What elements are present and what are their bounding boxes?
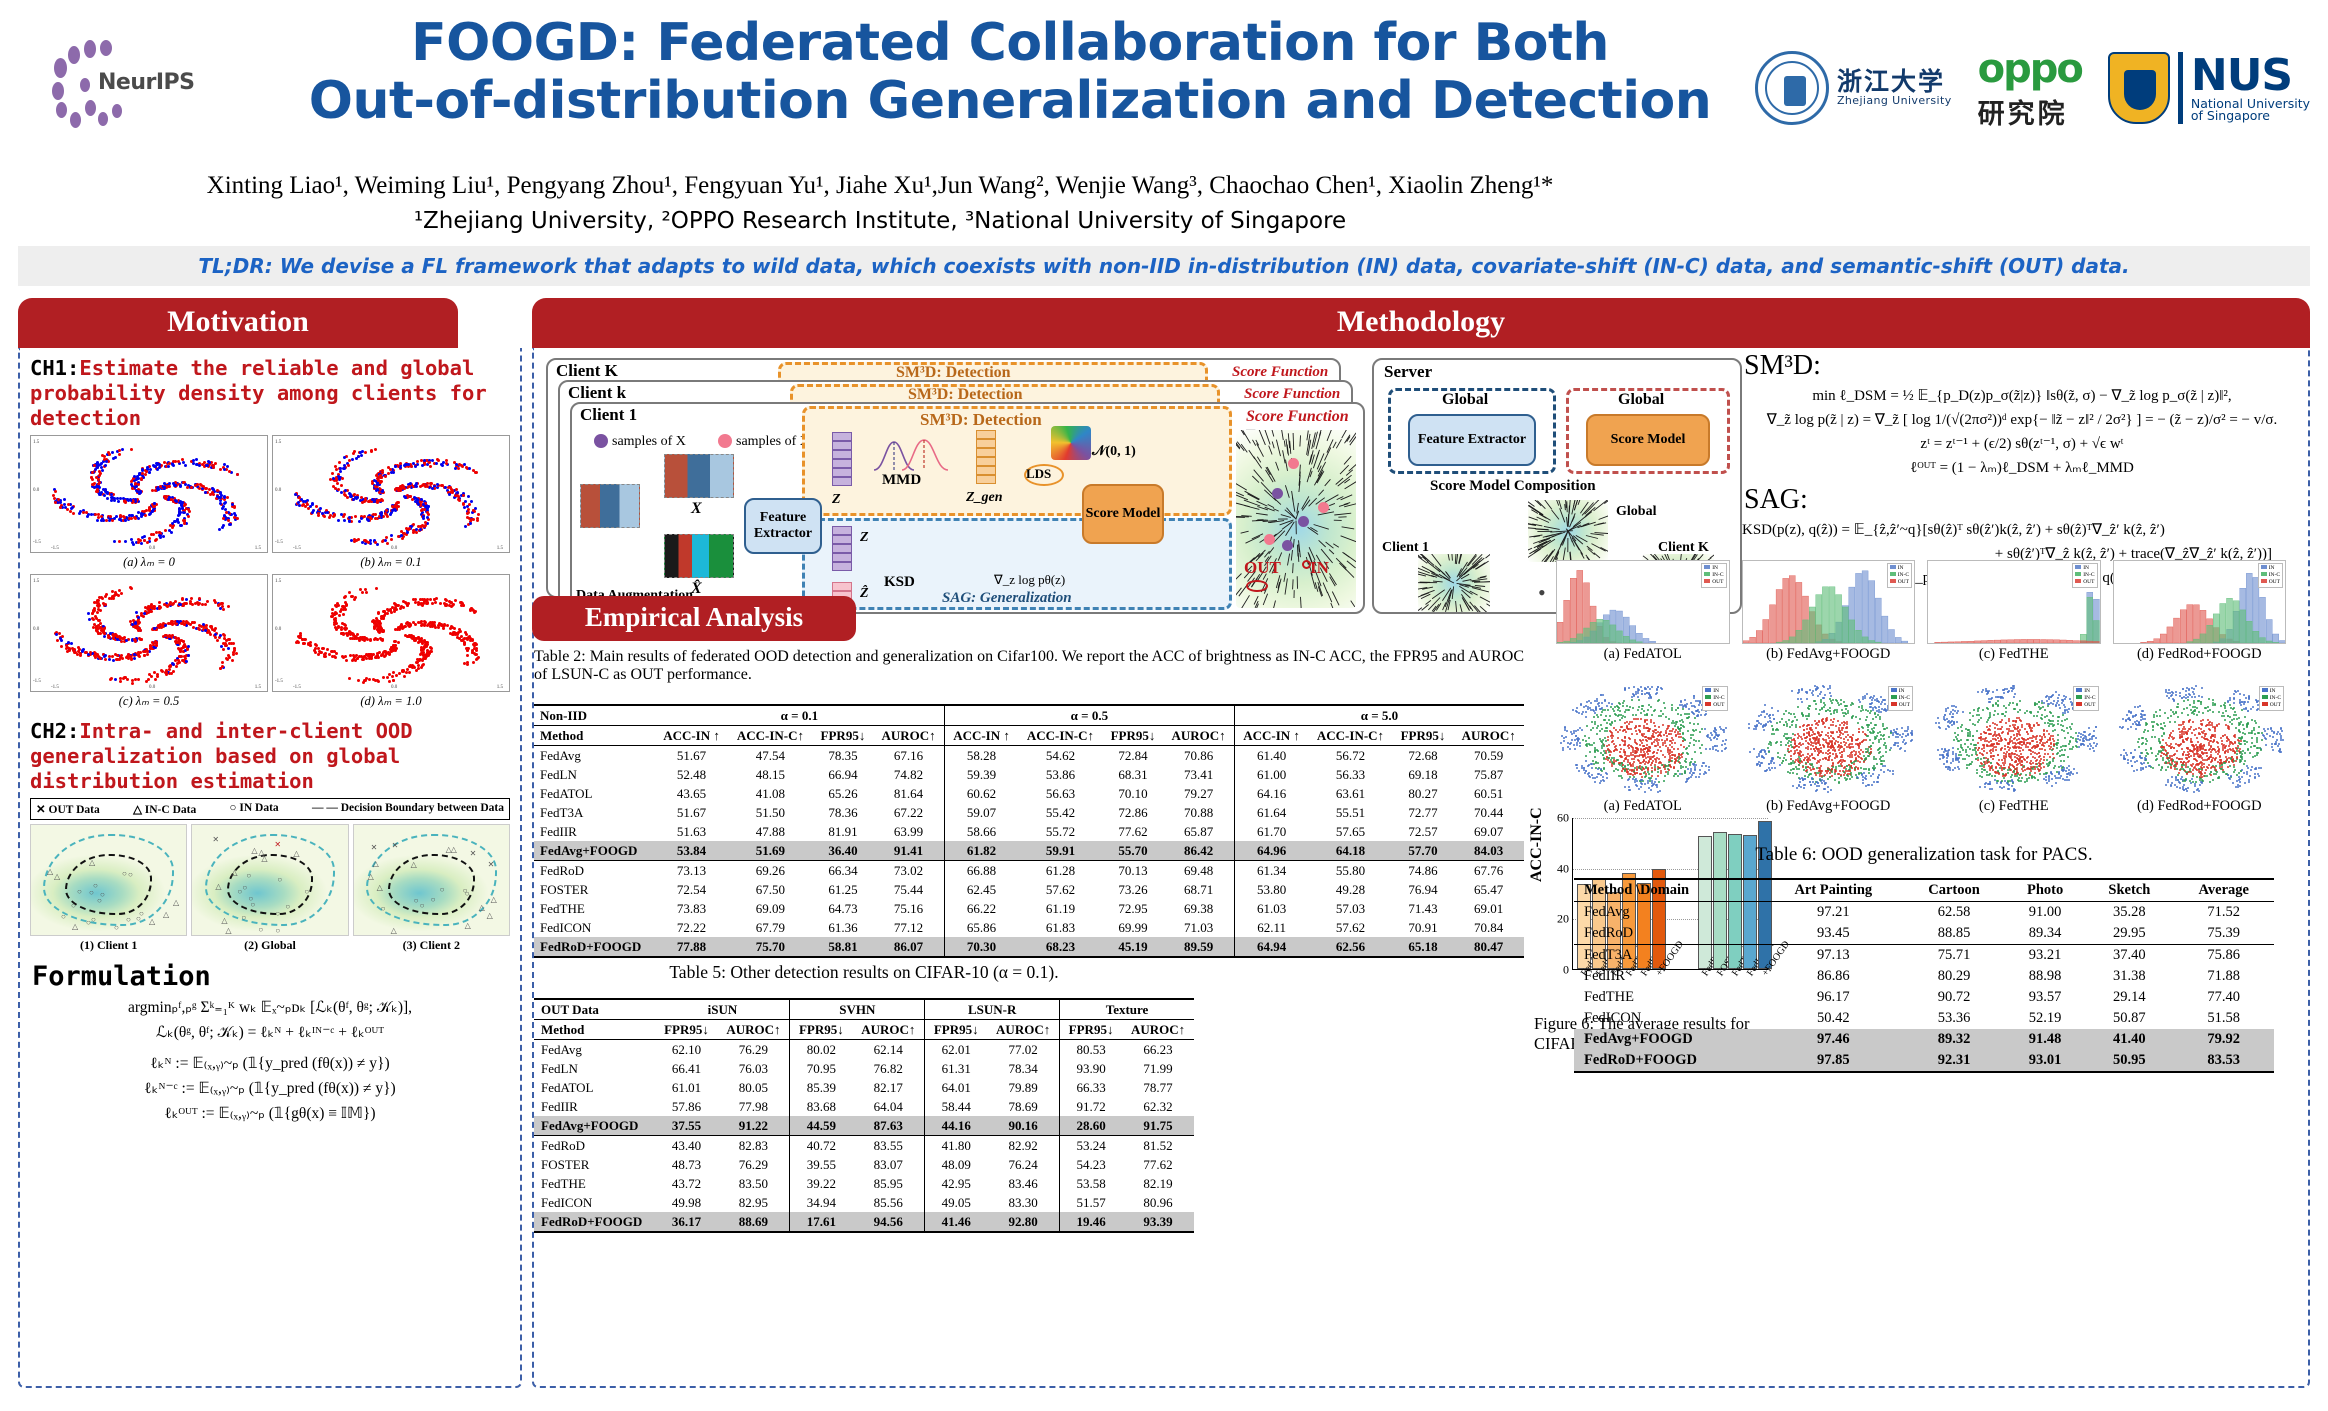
label-z-top: Z [832,492,841,508]
hist-caption-c: (c) FedTHE [1927,646,2101,663]
hist-plot-a: IN IN-C OUT [1556,560,1730,644]
hist-legend-b: IN IN-C OUT [1887,563,1912,588]
ch1-fig-c: 1.50.0-1.5-1.50.01.5 (c) λₘ = 0.5 [30,574,268,709]
legend-in-label: IN [1898,565,1904,571]
ch1-cap-c: (c) λₘ = 0.5 [30,693,268,709]
tsne-plot-d: ININ-COUT [2113,684,2287,796]
global-field-label: Global [1616,504,1656,520]
institution-logos: 浙江大学 Zhejiang University oppo 研究院 NUS Na… [1755,28,2310,148]
sag-equation-title: SAG: [1744,484,2302,516]
hist-caption-a: (a) FedATOL [1556,646,1730,663]
grad-log-p-label: ∇_z log pθ(z) [994,572,1065,588]
ch2-figure-grid: ○△△△○○○○△○○○△○△○○○○○○△ (1) Client 1 △○○○… [30,824,510,953]
legend-out-label: OUT [1898,579,1909,585]
table2-caption: Table 2: Main results of federated OOD d… [534,648,1524,684]
latent-stack-z-bottom [832,526,852,571]
zju-name-cn: 浙江大学 [1837,69,1952,95]
server-score-model-box: Score Model [1586,414,1710,466]
scatter-plot-d: 1.50.0-1.5-1.50.01.5 [272,574,510,692]
score-vector-field: OUT IN [1236,430,1356,608]
legend-label-xhat: samples of X̂ [736,434,810,450]
legend-in-label: IN [2083,565,2089,571]
neurips-logo: NeurIPS [52,38,232,128]
latent-stack-z-top [832,432,852,486]
feature-extractor-label: Feature Extractor [746,510,820,542]
ch1-label: CH1: [30,356,79,380]
label-z-bottom: Z [860,530,869,546]
lds-label: LDS [1026,466,1051,482]
out-region-label: OUT [1244,558,1281,578]
table-pacs-results: Method \DomainArt PaintingCartoonPhotoSk… [1574,878,2274,1073]
nus-wordmark: NUS [2191,54,2310,98]
ch1-cap-b: (b) λₘ = 0.1 [272,554,510,570]
tldr-prefix: TL;DR: [198,254,272,278]
tsne-row: ININ-COUT (a) FedATOL ININ-COUT (b) FedA… [1556,684,2286,815]
score-model-label: Score Model [1086,506,1161,522]
density-plot-global: △○○○○△○○△○○✕○○△○△✕△△○△ [191,824,348,936]
table-main-results: Non-IIDα = 0.1α = 0.5α = 5.0MethodACC-IN… [534,704,1524,958]
methodology-equations: SM³D: min ℓ_DSM = ½ 𝔼_{p_D(z)p_σ(z̃|z)} … [1742,348,2302,592]
table6-caption: Table 6: OOD generalization task for PAC… [1564,844,2284,866]
zju-logo: 浙江大学 Zhejiang University [1755,51,1952,125]
sm3d-equation-title: SM³D: [1744,350,2302,382]
tsne-caption-c: (c) FedTHE [1927,798,2101,815]
tsne-panel-d: ININ-COUT (d) FedRod+FOOGD [2113,684,2287,815]
hist-plot-c: IN IN-C OUT [1927,560,2101,644]
figure6-ylabel: ACC-IN-C [1528,807,1546,882]
scatter-plot-b: 1.50.0-1.5-1.50.01.5 [272,435,510,553]
author-list: Xinting Liao¹, Weiming Liu¹, Pengyang Zh… [150,172,1610,200]
legend-inc: △ IN-C Data [133,802,196,816]
latent-stack-zgen [976,430,996,484]
formulation-eq-1: argminₚᶠ,ₚᵍ Σᵏ₌₁ᴷ wₖ 𝔼ₓ~ₚᴅₖ [ℒₖ(θᶠ, θᵍ; … [30,998,510,1017]
table5-caption: Table 5: Other detection results on CIFA… [544,962,1184,983]
ch1-cap-d: (d) λₘ = 1.0 [272,693,510,709]
score-model-composition-label: Score Model Composition [1430,478,1596,495]
sm3d-eq-3: zᵗ = zᵗ⁻¹ + (ϵ/2) sθ(zᵗ⁻¹, σ) + √ϵ wᵗ [1742,434,2302,454]
table5-container: OUT DataiSUNSVHNLSUN-RTextureMethodFPR95… [534,998,1194,1233]
ch1-fig-b: 1.50.0-1.5-1.50.01.5 (b) λₘ = 0.1 [272,435,510,570]
legend-inc-label: IN-C [1712,572,1723,578]
title-line-1: FOOGD: Federated Collaboration for Both [300,14,1720,72]
normal-dist-label: 𝒩(0, 1) [1092,444,1136,460]
nus-name-line2: of Singapore [2191,110,2310,123]
ch2-fig-3: ○✕△○△✕△○△○✕✕△○△△△○○△△△ (3) Client 2 [353,824,510,953]
ch1-figure-grid: 1.50.0-1.5-1.50.01.5 (a) λₘ = 0 1.50.0-1… [30,435,510,709]
density-plot-client2: ○✕△○△✕△○△○✕✕△○△△△○○△△△ [353,824,510,936]
ch1-cap-a: (a) λₘ = 0 [30,554,268,570]
neurips-wordmark: NeurIPS [98,70,195,95]
legend-in-label: IN [1712,565,1718,571]
ch2-text: Intra- and inter-client OOD generalizati… [30,719,413,793]
scatter-plot-c: 1.50.0-1.5-1.50.01.5 [30,574,268,692]
hist-legend-d: IN IN-C OUT [2258,563,2283,588]
hist-caption-d: (d) FedRod+FOOGD [2113,646,2287,663]
label-zgen: Z_gen [966,490,1003,506]
sag-eq-1: KSD(p(z), q(ẑ)) = 𝔼_{ẑ,ẑ′~q}[sθ(ẑ)ᵀ … [1742,520,2302,540]
legend-label-x: samples of X [612,434,686,450]
poster-root: NeurIPS FOOGD: Federated Collaboration f… [0,0,2328,1411]
legend-out-label: OUT [2083,579,2094,585]
clientK-field-label: Client K [1658,540,1709,556]
density-plot-client1: ○△△△○○○○△○○○△○△○○○○○○△ [30,824,187,936]
methodology-heading: Methodology [532,298,2310,348]
mmd-label: MMD [882,472,921,489]
out-marker-icon [1246,580,1268,592]
legend-in-label: IN [2269,565,2275,571]
tldr-text: We devise a FL framework that adapts to … [280,254,2130,278]
tsne-panel-b: ININ-COUT (b) FedAvg+FOOGD [1742,684,1916,815]
gaussian-surface-icon [1051,426,1091,460]
ksd-label: KSD [884,574,915,591]
input-image-thumb [580,484,640,528]
hist-panel-c: IN IN-C OUT (c) FedTHE [1927,560,2101,663]
oppo-institute-cn: 研究院 [1978,92,2082,131]
tsne-caption-a: (a) FedATOL [1556,798,1730,815]
client1-field-label: Client 1 [1382,540,1429,556]
legend-dot-x [594,434,608,448]
legend-inc-label: IN-C [2269,572,2280,578]
hist-panel-a: IN IN-C OUT (a) FedATOL [1556,560,1730,663]
score-function-title-k: Score Function [1244,386,1340,403]
legend-in: ○ IN Data [230,802,279,816]
ch2-cap-1: (1) Client 1 [30,938,187,953]
score-model-box: Score Model [1082,484,1164,544]
table-other-detection: OUT DataiSUNSVHNLSUN-RTextureMethodFPR95… [534,998,1194,1233]
hist-plot-b: IN IN-C OUT [1742,560,1916,644]
legend-out-label: OUT [2269,579,2280,585]
methodology-panel: Methodology Client K SM³D: Detection Sco… [532,298,2310,1398]
global-label-1: Global [1442,391,1488,409]
mmd-curves-icon [872,436,950,472]
formulation-title: Formulation [32,961,510,992]
client-label-K: Client K [556,361,618,381]
score-function-title-1: Score Function [1246,408,1349,426]
server-score-model-label: Score Model [1611,432,1686,448]
tsne-plot-c: ININ-COUT [1927,684,2101,796]
scatter-plot-a: 1.50.0-1.5-1.50.01.5 [30,435,268,553]
decision-boundary-inner [388,854,475,916]
sm3d-eq-4: ℓᴼᵁᵀ = (1 − λₘ)ℓ_DSM + λₘℓ_MMD [1742,458,2302,478]
hist-legend-a: IN IN-C OUT [1701,563,1726,588]
tsne-panel-a: ININ-COUT (a) FedATOL [1556,684,1730,815]
score-function-title-K: Score Function [1232,364,1328,381]
zju-seal-icon [1755,51,1829,125]
table6-container: Method \DomainArt PaintingCartoonPhotoSk… [1574,878,2274,1073]
sm3d-eq-1: min ℓ_DSM = ½ 𝔼_{p_D(z)p_σ(z̃|z)} ‖sθ(z̃… [1742,386,2302,406]
hist-caption-b: (b) FedAvg+FOOGD [1742,646,1916,663]
formulation-eq-5: ℓₖᴼᵁᵀ := 𝔼₍ₓ,ᵧ₎~ₚ (𝟙{gθ(x) ≡ 𝕀𝕄}) [30,1104,510,1123]
hist-legend-c: IN IN-C OUT [2072,563,2097,588]
formulation-eq-4: ℓₖᴺ⁻ᶜ := 𝔼₍ₓ,ᵧ₎~ₚ (𝟙{y_pred (fθ(x)) ≠ y}… [30,1079,510,1098]
in-region-label: IN [1310,558,1329,578]
table2-container: Non-IIDα = 0.1α = 0.5α = 5.0MethodACC-IN… [534,704,1524,958]
motivation-heading: Motivation [18,298,458,348]
nus-crest-icon [2108,52,2170,124]
decision-boundary-inner [65,854,152,916]
client-label-1: Client 1 [580,405,637,425]
tsne-plot-b: ININ-COUT [1742,684,1916,796]
ch2-fig-1: ○△△△○○○○△○○○△○△○○○○○○△ (1) Client 1 [30,824,187,953]
legend-out: ✕ OUT Data [36,802,100,816]
tsne-panel-c: ININ-COUT (c) FedTHE [1927,684,2101,815]
ch2-cap-2: (2) Global [191,938,348,953]
ch2-label: CH2: [30,719,79,743]
oppo-logo: oppo 研究院 [1978,46,2082,131]
augmented-image-thumb-2 [664,534,734,578]
formulation-eq-2: ℒₖ(θᵍ, θᶠ; 𝒦ₖ) = ℓₖᴺ + ℓₖᴵᴺ⁻ᶜ + ℓₖᴼᵁᵀ [30,1023,510,1042]
hist-panel-b: IN IN-C OUT (b) FedAvg+FOOGD [1742,560,1916,663]
ch2-cap-3: (3) Client 2 [353,938,510,953]
feature-extractor-box: Feature Extractor [744,498,822,554]
ch1-text: Estimate the reliable and global probabi… [30,356,487,430]
ch2-legend: ✕ OUT Data △ IN-C Data ○ IN Data — — Dec… [30,798,510,820]
server-feature-extractor-box: Feature Extractor [1408,414,1536,466]
server-feature-extractor-label: Feature Extractor [1418,432,1526,448]
poster-header: NeurIPS FOOGD: Federated Collaboration f… [0,0,2328,236]
page-title: FOOGD: Federated Collaboration for Both … [300,14,1720,130]
sag-title: SAG: Generalization [942,590,1072,607]
legend-dot-xhat [718,434,732,448]
affiliation-list: ¹Zhejiang University, ²OPPO Research Ins… [150,208,1610,234]
sm3d-eq-2: ∇_z̃ log p(z̃ | z) = ∇_z̃ [ log 1/(√(2πσ… [1742,410,2302,430]
tsne-plot-a: ININ-COUT [1556,684,1730,796]
global-score-field [1528,500,1608,562]
challenge-1: CH1:Estimate the reliable and global pro… [30,356,510,431]
legend-inc-label: IN-C [2083,572,2094,578]
server-label: Server [1384,362,1432,382]
motivation-body: CH1:Estimate the reliable and global pro… [18,348,522,1388]
legend-boundary: — — Decision Boundary between Data [312,802,504,816]
sm3d-title-1: SM³D: Detection [920,410,1042,430]
tldr-banner: TL;DR: We devise a FL framework that ada… [18,246,2310,286]
tsne-caption-b: (b) FedAvg+FOOGD [1742,798,1916,815]
tsne-caption-d: (d) FedRod+FOOGD [2113,798,2287,815]
client1-score-field [1418,554,1490,612]
hist-panel-d: IN IN-C OUT (d) FedRod+FOOGD [2113,560,2287,663]
methodology-body: Client K SM³D: Detection Score Function … [532,348,2310,1388]
empirical-analysis-heading: Empirical Analysis [532,596,856,641]
diagram-label-x: X [691,500,702,518]
motivation-panel: Motivation CH1:Estimate the reliable and… [18,298,522,1398]
histogram-row: IN IN-C OUT (a) FedATOL IN IN-C [1556,560,2286,663]
nus-divider [2178,52,2183,124]
formulation-eq-3: ℓₖᴺ := 𝔼₍ₓ,ᵧ₎~ₚ (𝟙{y_pred (fθ(x)) ≠ y}) [30,1054,510,1073]
client-label-k: Client k [568,383,626,403]
hist-plot-d: IN IN-C OUT [2113,560,2287,644]
ch1-fig-d: 1.50.0-1.5-1.50.01.5 (d) λₘ = 1.0 [272,574,510,709]
augmented-image-thumb-1 [664,454,734,498]
global-label-2: Global [1618,391,1664,409]
zju-name-en: Zhejiang University [1837,95,1952,107]
challenge-2: CH2:Intra- and inter-client OOD generali… [30,719,510,794]
ch1-fig-a: 1.50.0-1.5-1.50.01.5 (a) λₘ = 0 [30,435,268,570]
oppo-wordmark: oppo [1978,46,2082,92]
legend-out-label: OUT [1712,579,1723,585]
label-zhat: Ẑ [860,586,869,602]
nus-logo: NUS National University of Singapore [2108,52,2310,124]
ch2-fig-2: △○○○○△○○△○○✕○○△○△✕△△○△ (2) Global [191,824,348,953]
legend-inc-label: IN-C [1898,572,1909,578]
in-marker-icon [1302,560,1311,569]
title-line-2: Out-of-distribution Generalization and D… [300,72,1720,130]
